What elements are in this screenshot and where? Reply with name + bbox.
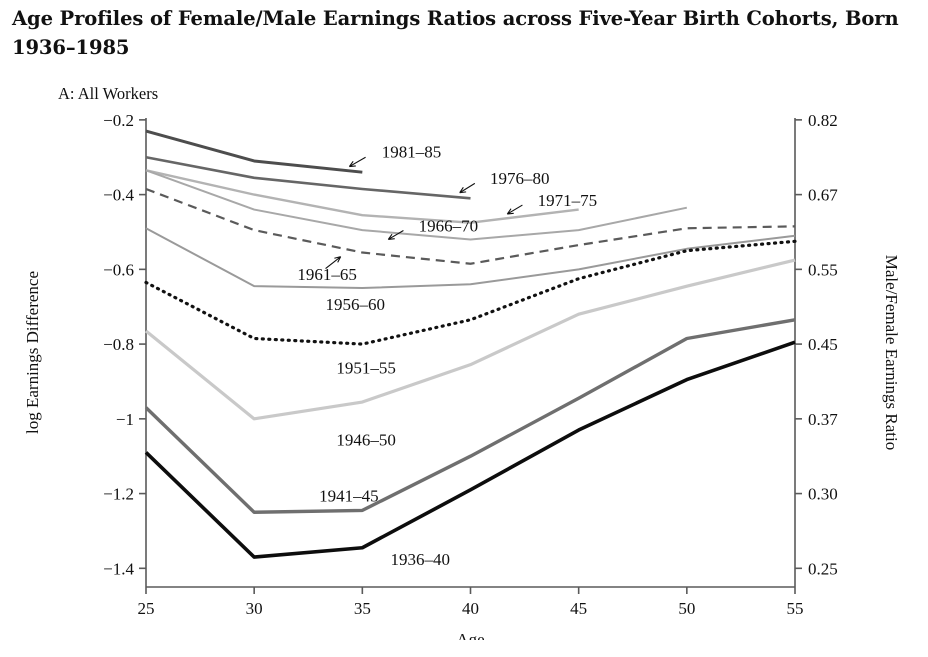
series-line-1981-85 <box>146 131 362 172</box>
y-axis-left-tick-label: −0.8 <box>103 335 134 354</box>
y-axis-left-tick-label: −0.2 <box>103 111 134 130</box>
series-label-arrow <box>460 183 475 192</box>
line-chart-svg: −0.2−0.4−0.6−0.8−1−1.2−1.40.820.670.550.… <box>0 100 928 640</box>
y-axis-left-title: log Earnings Difference <box>23 271 42 434</box>
y-axis-right-tick-label: 0.37 <box>808 410 838 429</box>
y-axis-right-tick-label: 0.30 <box>808 485 838 504</box>
series-line-1956-60 <box>146 228 795 288</box>
x-axis-tick-label: 25 <box>138 599 155 618</box>
series-label-1936-40: 1936–40 <box>390 550 450 569</box>
y-axis-right-tick-label: 0.55 <box>808 260 838 279</box>
series-label-1941-45: 1941–45 <box>319 486 379 505</box>
chart-area: −0.2−0.4−0.6−0.8−1−1.2−1.40.820.670.550.… <box>0 100 928 657</box>
y-axis-left-tick-label: −0.6 <box>103 260 134 279</box>
x-axis-tick-label: 40 <box>462 599 479 618</box>
x-axis-tick-label: 45 <box>570 599 587 618</box>
series-label-1981-85: 1981–85 <box>382 143 442 162</box>
series-label-arrow <box>507 205 522 214</box>
series-line-1941-45 <box>146 320 795 512</box>
series-label-1961-65: 1961–65 <box>297 265 357 284</box>
x-axis-tick-label: 50 <box>678 599 695 618</box>
figure-page: Age Profiles of Female/Male Earnings Rat… <box>0 0 928 657</box>
y-axis-right-tick-label: 0.25 <box>808 559 838 578</box>
series-label-1956-60: 1956–60 <box>326 295 386 314</box>
series-label-1966-70: 1966–70 <box>419 216 479 235</box>
series-line-1966-70 <box>146 170 687 239</box>
series-label-1971-75: 1971–75 <box>538 191 598 210</box>
y-axis-right-title: Male/Female Earnings Ratio <box>882 255 901 450</box>
figure-title: Age Profiles of Female/Male Earnings Rat… <box>12 4 912 62</box>
y-axis-right-tick-label: 0.45 <box>808 335 838 354</box>
series-label-arrow <box>349 157 365 166</box>
y-axis-right-tick-label: 0.82 <box>808 111 838 130</box>
series-line-1951-55 <box>146 241 795 344</box>
y-axis-left-tick-label: −1.4 <box>103 559 134 578</box>
y-axis-left-tick-label: −0.4 <box>103 186 134 205</box>
series-label-1946-50: 1946–50 <box>336 430 396 449</box>
series-line-1936-40 <box>146 342 795 557</box>
series-label-1951-55: 1951–55 <box>336 358 396 377</box>
x-axis-tick-label: 30 <box>246 599 263 618</box>
y-axis-left-tick-label: −1 <box>116 410 134 429</box>
series-line-1976-80 <box>146 157 471 198</box>
x-axis-tick-label: 55 <box>787 599 804 618</box>
x-axis-tick-label: 35 <box>354 599 371 618</box>
series-label-1976-80: 1976–80 <box>490 169 549 188</box>
x-axis-title: Age <box>456 630 484 640</box>
y-axis-right-tick-label: 0.67 <box>808 186 838 205</box>
y-axis-left-tick-label: −1.2 <box>103 485 134 504</box>
